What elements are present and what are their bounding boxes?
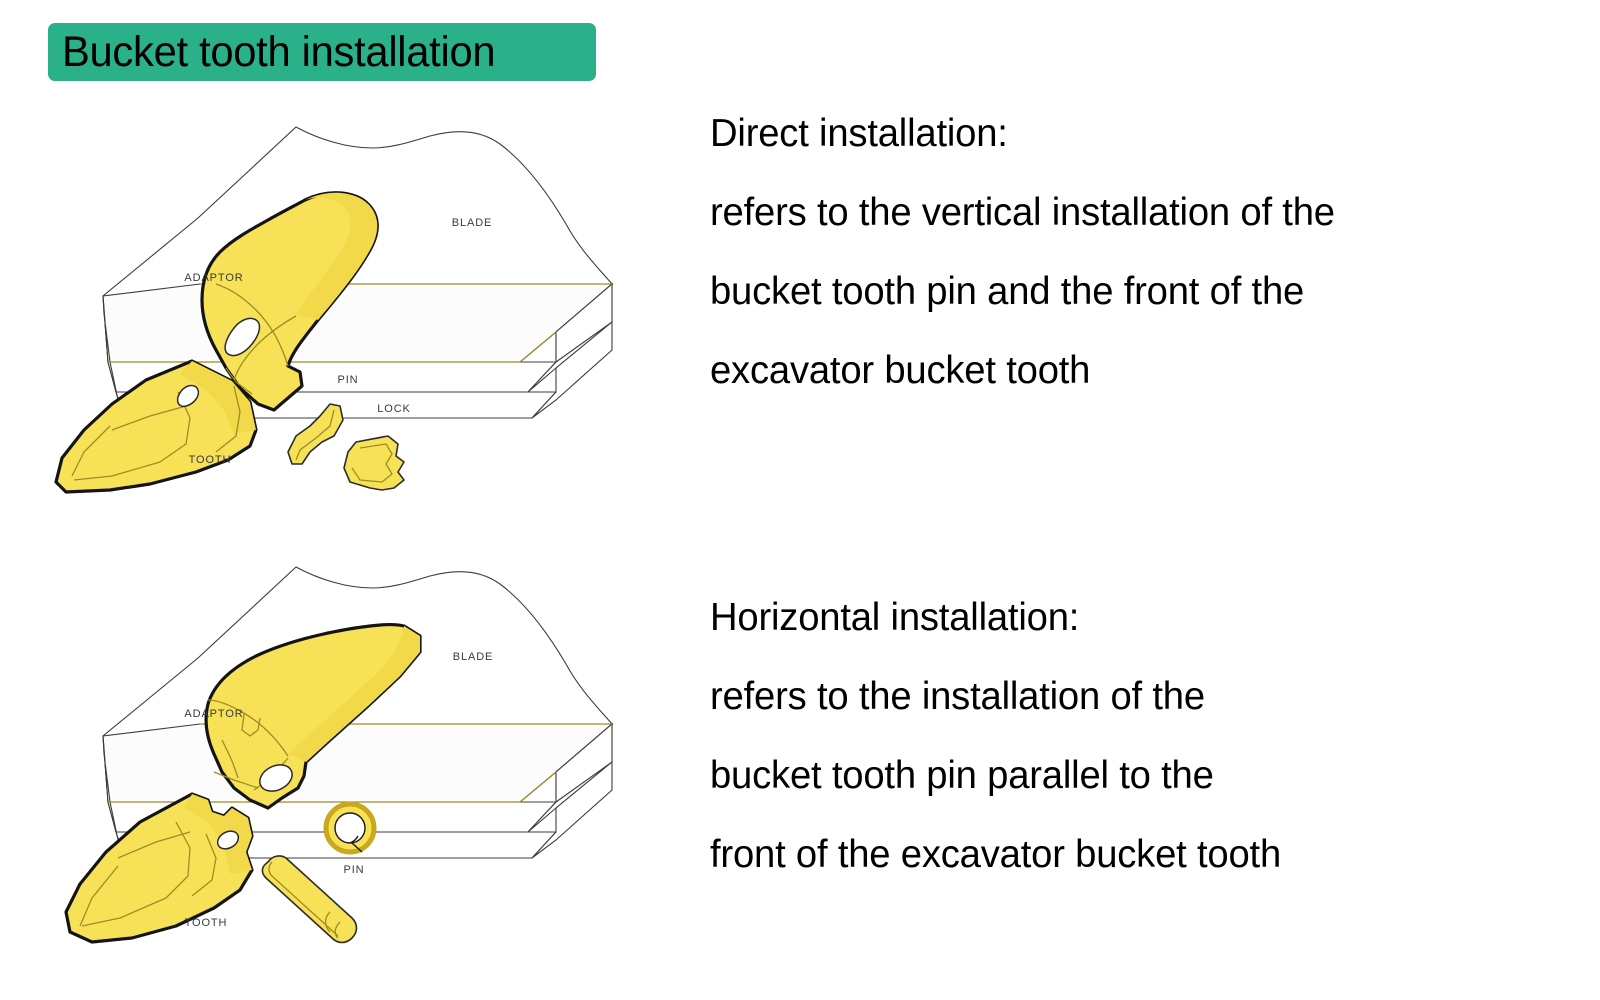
direct-heading: Direct installation: [710,94,1533,173]
diagram-horizontal-installation: BLADE ADAPTOR TOOTH [0,540,680,980]
tooth-part-2: TOOTH [66,794,252,942]
direct-body-line-2: bucket tooth pin and the front of the [710,252,1533,331]
lock-label: LOCK [377,403,411,415]
direct-body-line-1: refers to the vertical installation of t… [710,173,1533,252]
text-block-direct-installation: Direct installation: refers to the verti… [710,94,1550,410]
tooth-part: TOOTH [56,361,256,492]
horizontal-heading: Horizontal installation: [710,578,1533,657]
horizontal-body-line-3: front of the excavator bucket tooth [710,815,1533,894]
diagram-direct-installation: BLADE ADAPTOR TOOTH [0,100,680,520]
retainer-ring-part [326,804,374,852]
page-title: Bucket tooth installation [62,31,495,74]
pin-label: PIN [337,374,358,386]
blade-label: BLADE [452,217,493,229]
tooth-label: TOOTH [189,454,232,466]
horizontal-body-line-2: bucket tooth pin parallel to the [710,736,1533,815]
blade-label-2: BLADE [453,651,494,663]
pin-label-2: PIN [343,864,364,876]
adaptor-label-2: ADAPTOR [184,708,243,720]
page-title-banner: Bucket tooth installation [48,23,596,81]
text-block-horizontal-installation: Horizontal installation: refers to the i… [710,578,1550,894]
adaptor-label: ADAPTOR [184,272,243,284]
horizontal-body-line-1: refers to the installation of the [710,657,1533,736]
pin-part-2: PIN [262,856,364,943]
direct-body-line-3: excavator bucket tooth [710,331,1533,410]
tooth-label-2: TOOTH [185,917,228,929]
